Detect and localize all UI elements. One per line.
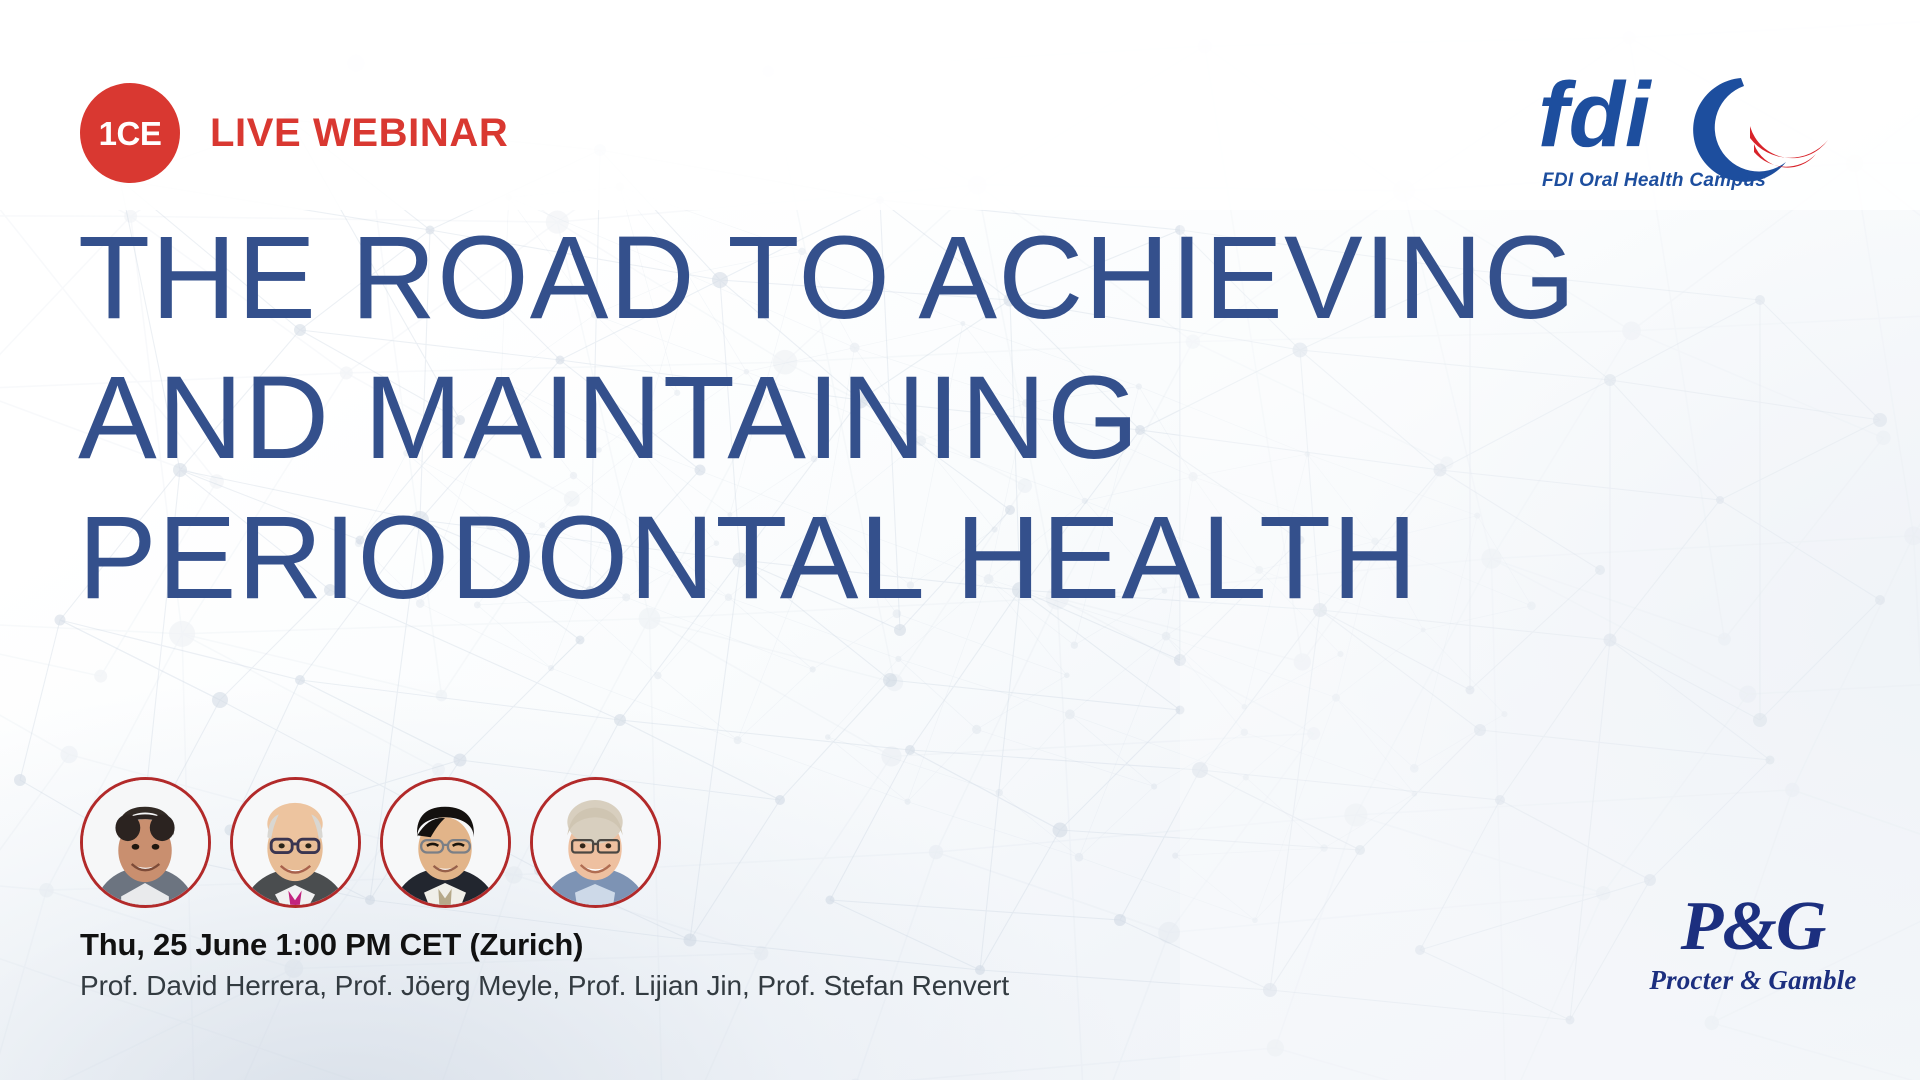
headline-line-2: AND MAINTAINING: [78, 348, 1638, 488]
speaker-portrait-herrera: [83, 780, 208, 905]
fdi-tagline: FDI Oral Health Campus: [1542, 170, 1766, 191]
fdi-wordmark: fdi: [1538, 64, 1653, 166]
speaker-names: Prof. David Herrera, Prof. Jöerg Meyle, …: [80, 965, 1009, 1007]
event-datetime: Thu, 25 June 1:00 PM CET (Zurich): [80, 925, 1009, 965]
avatar: [380, 777, 511, 908]
avatar: [80, 777, 211, 908]
avatar: [530, 777, 661, 908]
procter-and-gamble-logo: P&G Procter & Gamble: [1638, 890, 1868, 1010]
pg-monogram: P&G: [1638, 890, 1868, 964]
avatar: [230, 777, 361, 908]
webinar-type-bar: 1CE LIVE WEBINAR: [80, 83, 508, 183]
fdi-oral-health-campus-logo: fdi FDI Oral Health Campus: [1528, 58, 1878, 198]
speaker-portrait-meyle: [233, 780, 358, 905]
headline-line-1: THE ROAD TO ACHIEVING: [78, 208, 1638, 348]
live-webinar-label: LIVE WEBINAR: [210, 113, 508, 153]
ce-credit-label: 1CE: [99, 117, 162, 150]
event-details: Thu, 25 June 1:00 PM CET (Zurich) Prof. …: [80, 925, 1009, 1007]
headline-line-3: PERIODONTAL HEALTH: [78, 488, 1638, 628]
ce-credit-badge: 1CE: [80, 83, 180, 183]
page-title: THE ROAD TO ACHIEVING AND MAINTAINING PE…: [78, 208, 1638, 628]
speaker-avatar-group: [80, 777, 661, 908]
speaker-portrait-renvert: [533, 780, 658, 905]
pg-wordmark: Procter & Gamble: [1638, 964, 1868, 996]
speaker-portrait-jin: [383, 780, 508, 905]
webinar-banner: 1CE LIVE WEBINAR fdi FDI Oral Health Cam…: [0, 0, 1920, 1080]
